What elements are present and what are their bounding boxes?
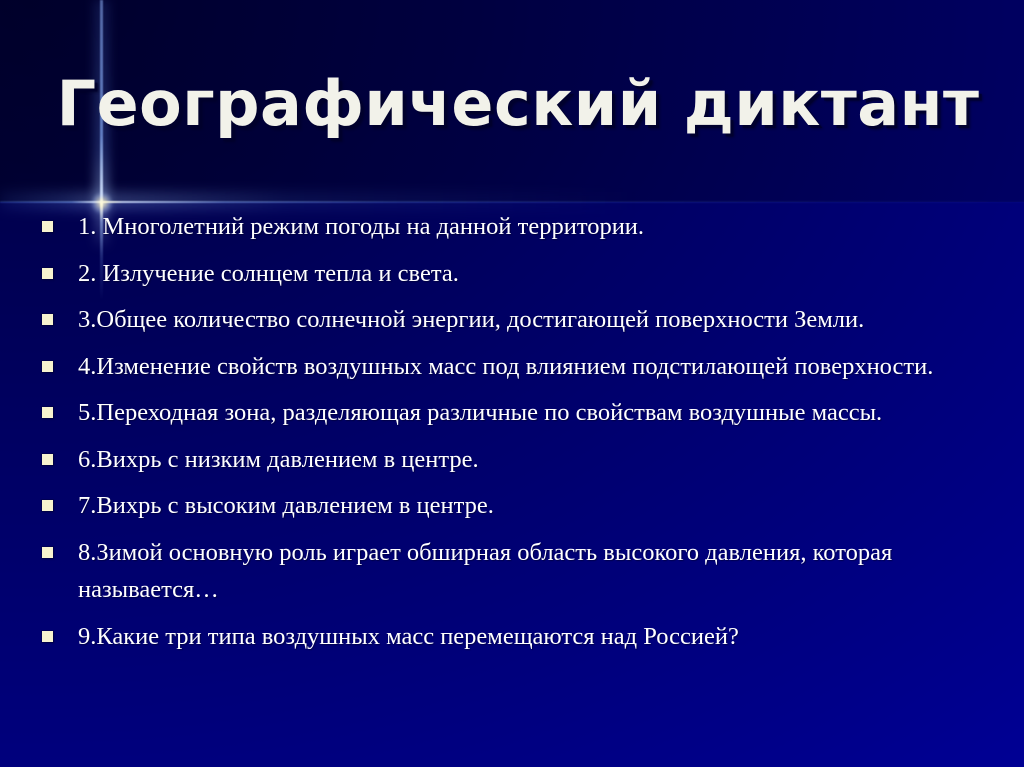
square-bullet-icon	[42, 454, 53, 465]
square-bullet-icon	[42, 221, 53, 232]
list-item: 9.Какие три типа воздушных масс перемеща…	[0, 618, 1024, 656]
square-bullet-icon	[42, 407, 53, 418]
list-item: 8.Зимой основную роль играет обширная об…	[0, 534, 1024, 609]
question-list: 1. Многолетний режим погоды на данной те…	[0, 208, 1024, 664]
slide-title: Географический диктант	[0, 71, 1024, 136]
square-bullet-icon	[42, 268, 53, 279]
square-bullet-icon	[42, 631, 53, 642]
list-item-text: 4.Изменение свойств воздушных масс под в…	[78, 348, 978, 386]
crosshair-horizontal-line	[0, 201, 1024, 203]
list-item: 5.Переходная зона, разделяющая различные…	[0, 394, 1024, 432]
list-item-text: 2. Излучение солнцем тепла и света.	[78, 255, 978, 293]
list-item-text: 7.Вихрь с высоким давлением в центре.	[78, 487, 978, 525]
list-item-text: 3.Общее количество солнечной энергии, до…	[78, 301, 978, 339]
list-item: 2. Излучение солнцем тепла и света.	[0, 255, 1024, 293]
list-item-text: 5.Переходная зона, разделяющая различные…	[78, 394, 978, 432]
square-bullet-icon	[42, 314, 53, 325]
list-item: 7.Вихрь с высоким давлением в центре.	[0, 487, 1024, 525]
list-item: 4.Изменение свойств воздушных масс под в…	[0, 348, 1024, 386]
list-item-text: 6.Вихрь с низким давлением в центре.	[78, 441, 978, 479]
list-item-text: 9.Какие три типа воздушных масс перемеща…	[78, 618, 978, 656]
square-bullet-icon	[42, 500, 53, 511]
list-item-text: 8.Зимой основную роль играет обширная об…	[78, 534, 978, 609]
list-item-text: 1. Многолетний режим погоды на данной те…	[78, 208, 978, 246]
square-bullet-icon	[42, 547, 53, 558]
square-bullet-icon	[42, 361, 53, 372]
list-item: 1. Многолетний режим погоды на данной те…	[0, 208, 1024, 246]
list-item: 3.Общее количество солнечной энергии, до…	[0, 301, 1024, 339]
list-item: 6.Вихрь с низким давлением в центре.	[0, 441, 1024, 479]
presentation-slide: Географический диктант 1. Многолетний ре…	[0, 0, 1024, 767]
